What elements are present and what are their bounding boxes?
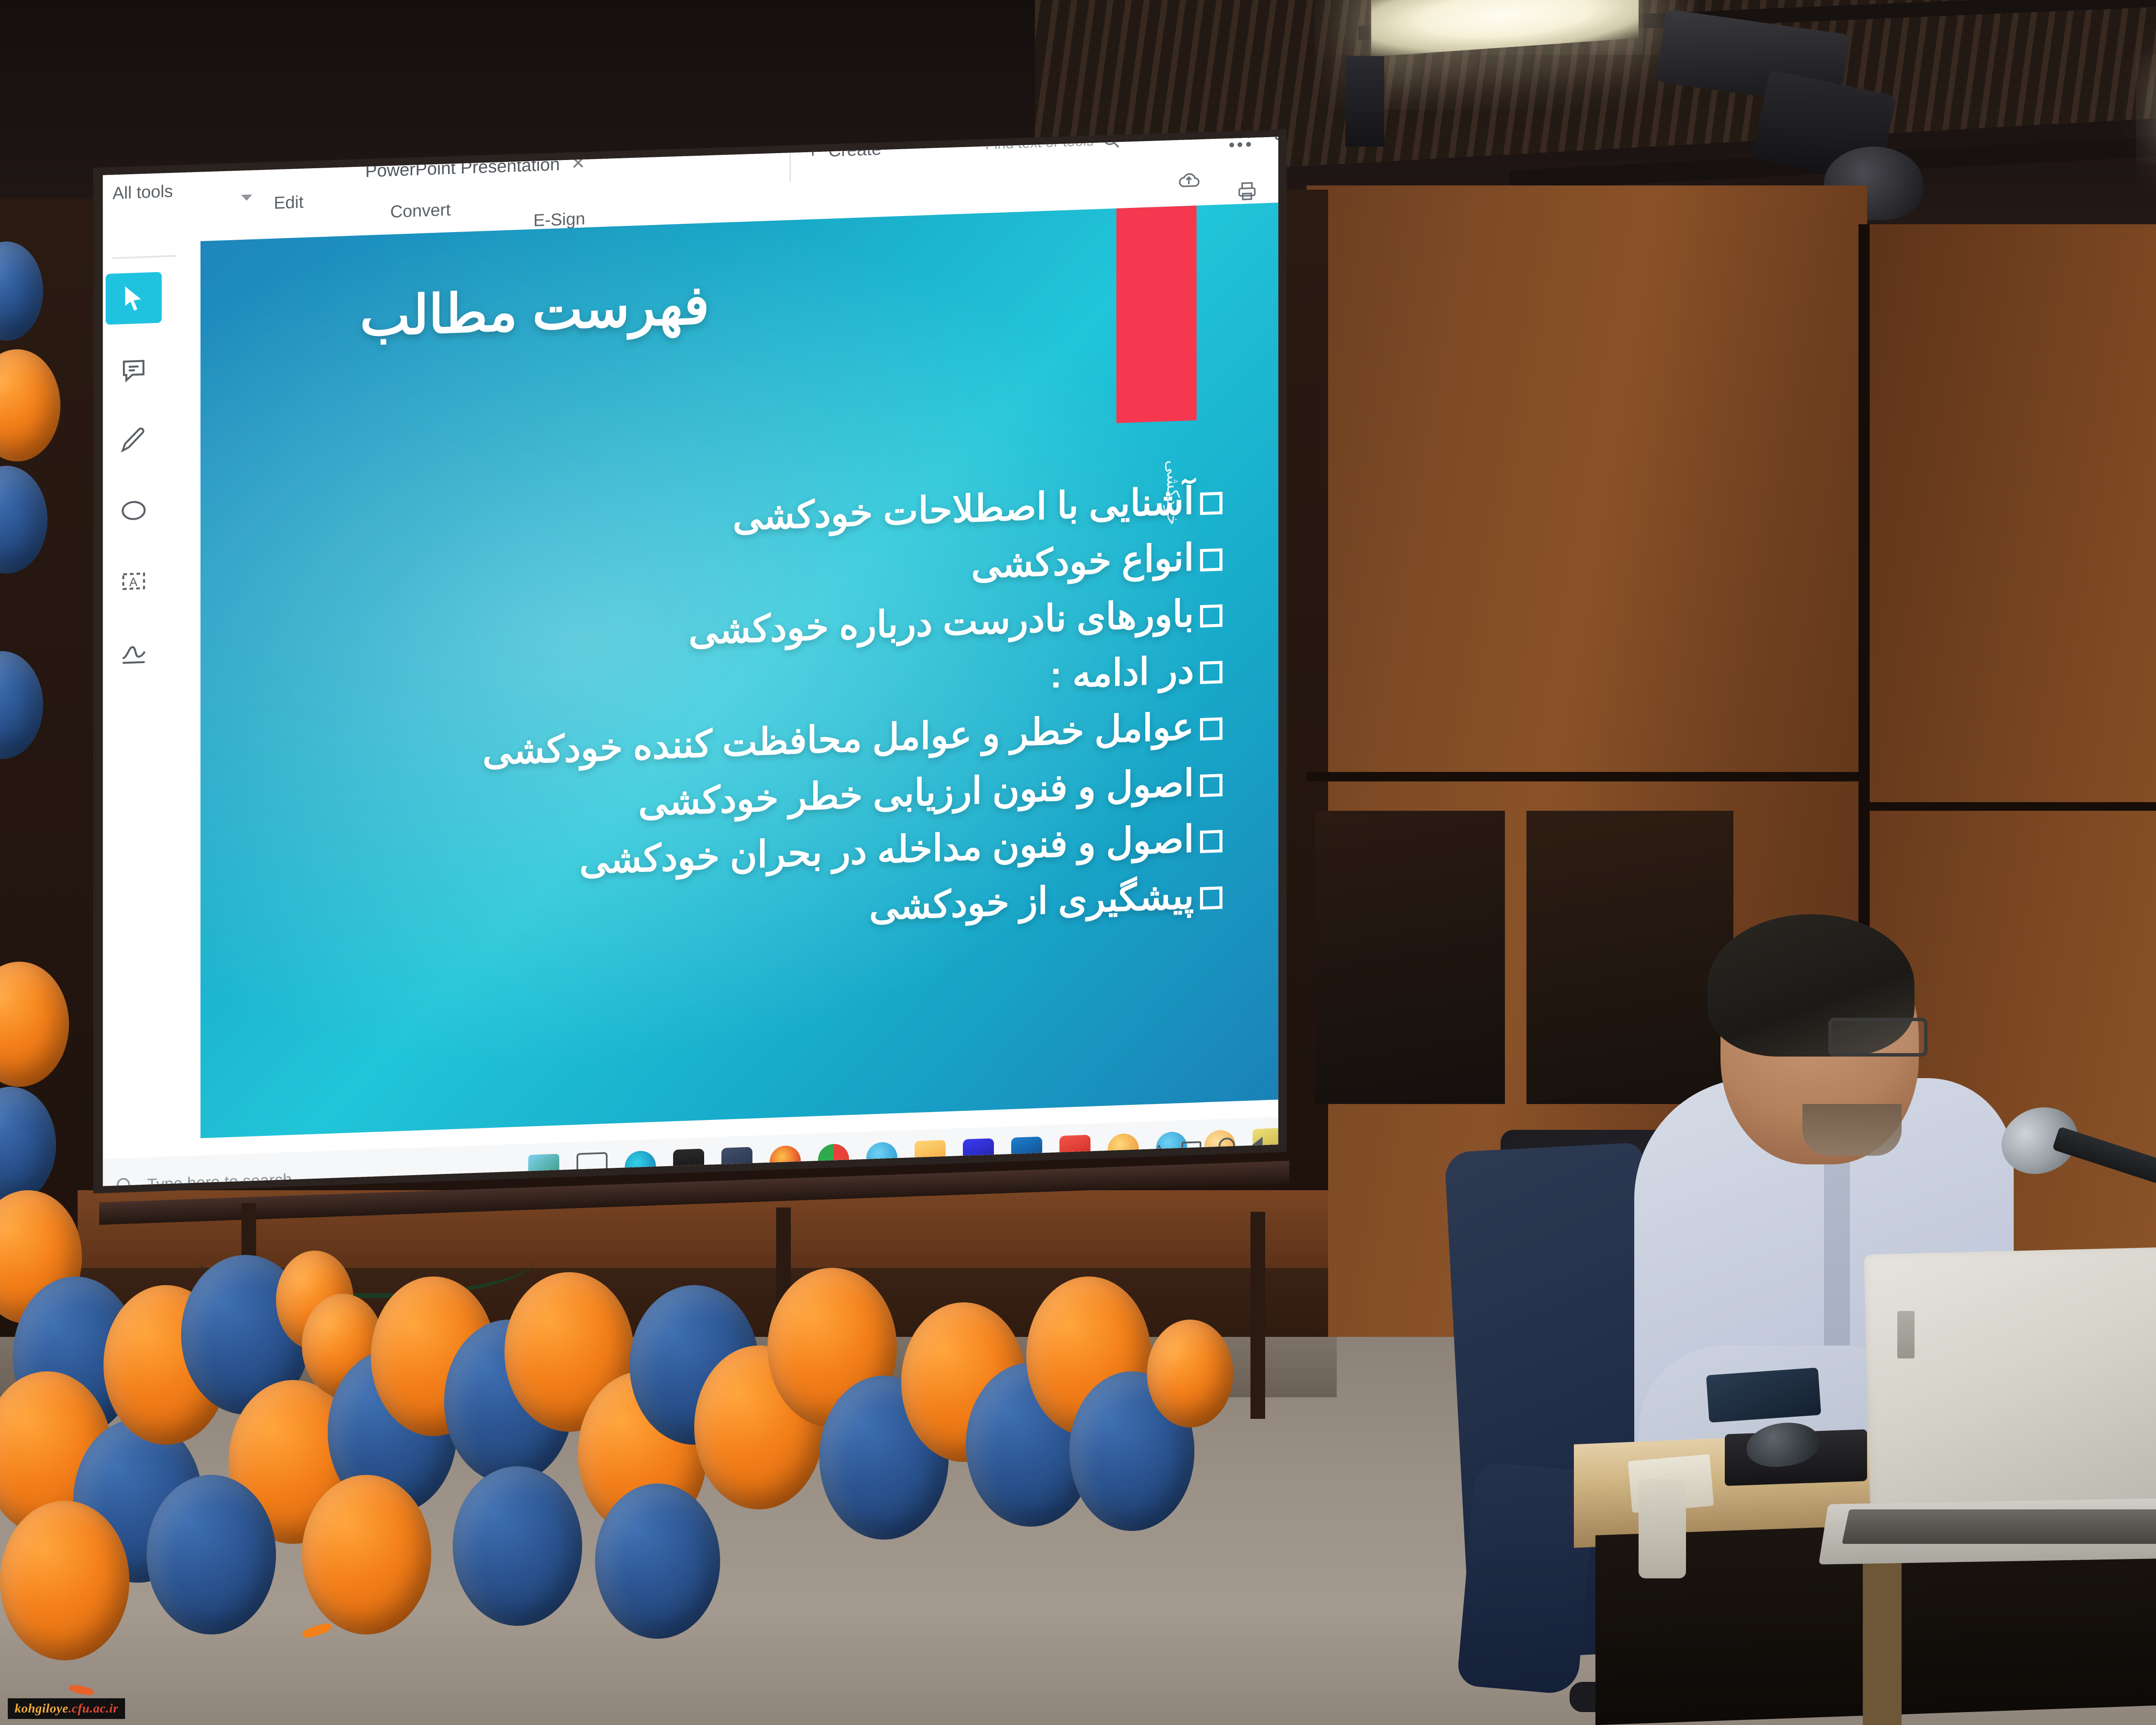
comment-tool[interactable] [106,342,162,395]
balloon [147,1475,276,1634]
slide-title: فهرست مطالب [360,274,709,348]
select-tool[interactable] [106,272,162,325]
scene-root: Menu PowerPoint Presentation ✕ + Cr [0,0,2156,1725]
hamburger-menu-icon[interactable] [108,132,135,152]
print-icon[interactable] [1235,179,1259,203]
chrome-icon[interactable] [818,1143,849,1176]
shape-tool[interactable] [106,484,162,537]
wall-panel-divider [1870,802,2156,811]
balloon [302,1475,431,1634]
rail-divider [112,255,176,259]
menu-label[interactable]: Menu [144,133,188,154]
bullet-text: در ادامه : [1050,649,1194,696]
desk-leg [1863,1535,1902,1725]
watermark-part2: .cfu.ac.ir [69,1701,119,1716]
tab-separator [790,132,791,182]
checkbox-bullet-icon [1200,774,1222,797]
watermark-part1: kohgiloye [15,1701,69,1716]
app-n-icon[interactable] [915,1140,946,1172]
chevron-down-icon[interactable] [241,194,252,201]
edge-browser-icon[interactable] [625,1150,656,1182]
presenter-beard [1802,1104,1902,1156]
ceiling-rod [1345,56,1384,147]
draw-tool[interactable] [106,413,162,466]
slide-accent-bar [1116,206,1197,423]
svg-text:A: A [129,575,138,590]
document-tab[interactable]: PowerPoint Presentation ✕ [361,137,600,197]
text-box-tool[interactable]: A [106,555,162,608]
slide-bullet-list: آشنایی با اصطلاحات خودکشی انواع خودکشی ب… [282,472,1222,957]
eyeglasses [1828,1018,1927,1057]
opera-icon[interactable] [1108,1133,1139,1165]
checkbox-bullet-icon [1200,605,1222,628]
checkbox-bullet-icon [1200,661,1222,684]
balloon [453,1466,582,1626]
wall-recess-panel [1315,811,1505,1104]
tab-convert[interactable]: Convert [390,200,451,222]
photoshop-icon[interactable] [1011,1136,1042,1169]
firefox-icon[interactable] [770,1145,801,1177]
wall-panel-divider [1307,772,1867,781]
watermark: kohgiloye.cfu.ac.ir [8,1698,125,1719]
laptop-brand-logo [1897,1311,1915,1358]
projection-screen: Menu PowerPoint Presentation ✕ + Cr [88,129,1291,1195]
tab-edit[interactable]: Edit [274,193,304,213]
screen-support-leg [1250,1212,1265,1419]
tab-all-tools[interactable]: All tools [113,182,173,204]
checkbox-bullet-icon [1200,830,1222,853]
smartphone [1706,1367,1821,1423]
bullet-text: انواع خودکشی [971,537,1194,586]
home-icon[interactable] [244,129,269,154]
water-bottle [1639,1479,1686,1578]
upload-cloud-icon[interactable] [1177,168,1200,192]
checkbox-bullet-icon [1200,717,1222,740]
tools-rail: A [106,254,188,698]
pdf-slide-page: فهرست مطالب خودکشی آشنایی با اصطلاحات خو… [201,201,1291,1138]
balloon [1147,1320,1233,1427]
checkbox-bullet-icon [1200,492,1222,515]
checkbox-bullet-icon [1200,548,1222,571]
bullet-text: آشنایی با اصطلاحات خودکشی [733,480,1194,538]
mail-icon[interactable] [721,1147,752,1179]
signature-tool[interactable] [106,625,162,678]
weather-widget-icon[interactable] [528,1154,559,1186]
balloon [0,1501,129,1660]
telegram-icon[interactable] [866,1142,897,1174]
balloon [595,1483,720,1639]
acrobat-window: Menu PowerPoint Presentation ✕ + Cr [88,129,1291,1195]
screen-canvas: Menu PowerPoint Presentation ✕ + Cr [88,129,1291,1195]
task-view-icon[interactable] [577,1152,608,1184]
wall-recess-panel [1526,811,1733,1104]
bullet-text: پیشگیری از خودکشی [869,875,1194,928]
laptop-keyboard [1842,1509,2156,1544]
checkbox-bullet-icon [1200,886,1222,910]
media-player-icon[interactable] [1059,1135,1091,1167]
bullet-text: باورهای نادرست درباره خودکشی [689,593,1194,652]
laptop-lid [1864,1247,2156,1522]
store-icon[interactable] [673,1148,704,1181]
premiere-pro-icon[interactable] [963,1138,994,1170]
